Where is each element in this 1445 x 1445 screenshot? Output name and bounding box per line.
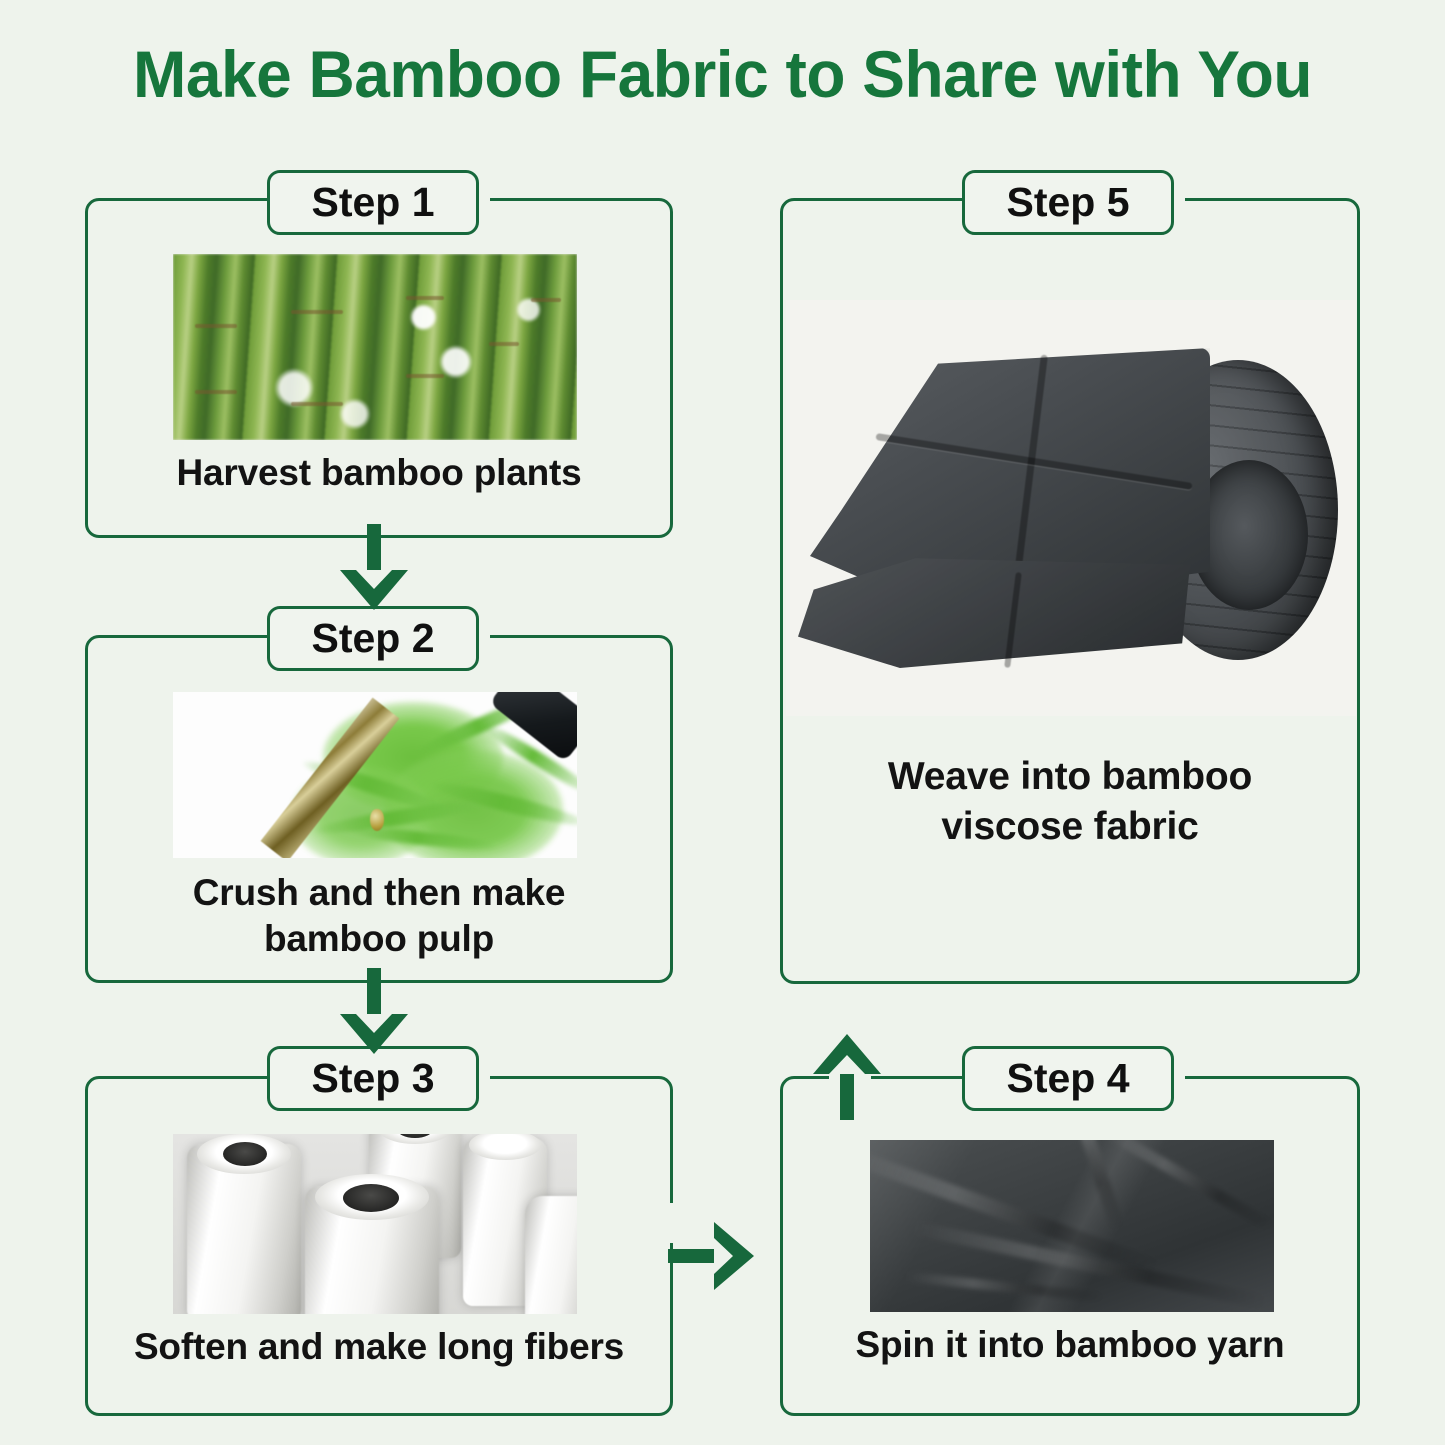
step-4-caption: Spin it into bamboo yarn xyxy=(780,1322,1360,1368)
step-4-label-chip[interactable]: Step 4 xyxy=(962,1046,1174,1111)
step-4-label-text: Step 4 xyxy=(1006,1055,1129,1102)
arrow-step2-to-step3 xyxy=(334,968,414,1056)
step-3-label-text: Step 3 xyxy=(311,1055,434,1102)
step-1-label-text: Step 1 xyxy=(311,179,434,226)
bamboo-forest-photo xyxy=(173,254,577,440)
page-title: Make Bamboo Fabric to Share with You xyxy=(22,36,1424,112)
dark-gray-fabric-closeup-photo xyxy=(870,1140,1274,1312)
step-5-label-chip[interactable]: Step 5 xyxy=(962,170,1174,235)
step-2-label-text: Step 2 xyxy=(311,615,434,662)
arrow-step1-to-step2 xyxy=(334,524,414,612)
step-5-caption: Weave into bamboo viscose fabric xyxy=(780,752,1360,852)
white-thread-spools-photo xyxy=(173,1134,577,1314)
arrow-step4-to-step5 xyxy=(807,1032,887,1120)
rolled-gray-weighted-blanket-photo xyxy=(786,300,1356,716)
step-2-caption: Crush and then make bamboo pulp xyxy=(85,870,673,962)
step-1-label-chip[interactable]: Step 1 xyxy=(267,170,479,235)
step-1-caption: Harvest bamboo plants xyxy=(85,450,673,496)
step-2-label-chip[interactable]: Step 2 xyxy=(267,606,479,671)
step-5-label-text: Step 5 xyxy=(1006,179,1129,226)
bamboo-extract-dropper-photo xyxy=(173,692,577,858)
step-3-caption: Soften and make long fibers xyxy=(85,1324,673,1370)
arrow-step3-to-step4 xyxy=(668,1216,756,1296)
